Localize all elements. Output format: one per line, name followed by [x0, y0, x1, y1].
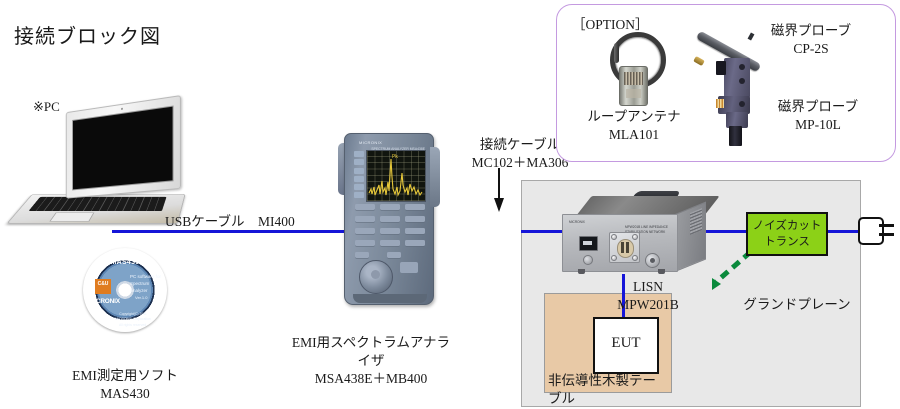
analyzer-soft-keys: [354, 151, 364, 199]
analyzer-button-row-4: [355, 240, 425, 246]
lisn-caption: LISN MPW201B: [596, 278, 700, 314]
cd-badge: C&U: [95, 279, 111, 294]
analyzer-display: Pk: [366, 150, 426, 202]
mp10l-hole-2: [739, 78, 745, 84]
power-plug-icon: [858, 213, 894, 247]
plug-pin-top: [879, 224, 894, 227]
laptop-base: [6, 194, 185, 224]
magnetic-probe-mp10l-icon: [714, 58, 758, 146]
mp10l-top: [724, 58, 750, 98]
laptop-keyboard: [28, 197, 166, 211]
eut-box: EUT: [593, 317, 659, 374]
cp2s-band: [748, 32, 755, 40]
lisn-front-panel: MICRONIX MPW201B LINE IMPEDANCE STABILIZ…: [562, 214, 678, 272]
wire-lisn-output: [703, 230, 747, 233]
cd-brand: MICRONIX: [89, 298, 120, 305]
usb-cable-line: [112, 230, 346, 233]
mp10l-hole-1: [739, 64, 745, 70]
plug-body: [858, 217, 884, 245]
analyzer-button-row-2: [355, 216, 425, 222]
wooden-table-caption: 非伝導性木製テーブル: [548, 372, 666, 408]
mp10l-stem: [729, 126, 742, 146]
cd-disc-icon: MAS430 C&U MICRONIX PC software for Spec…: [83, 248, 167, 332]
laptop-lid: [66, 95, 181, 199]
analyzer-brand: MICRONIX: [359, 140, 382, 145]
lisn-power-outlet: [609, 232, 640, 263]
analyzer-button-row-1: [355, 204, 425, 210]
svg-text:Pk: Pk: [392, 154, 398, 160]
lisn-control-knob: [583, 255, 593, 265]
analyzer-right-bumper: [430, 147, 440, 207]
webcam-icon: [121, 108, 123, 110]
lisn-side-panel: [675, 201, 706, 272]
cp2s-tip: [693, 56, 705, 66]
spectrum-trace: Pk: [367, 151, 425, 201]
cd-version: Ver.1.0: [135, 295, 147, 300]
lisn-display: [579, 236, 598, 251]
cd-title: MAS430: [83, 259, 167, 266]
loop-antenna-caption: ループアンテナ MLA101: [578, 108, 690, 144]
eut-label: EUT: [595, 335, 657, 352]
magnetic-probe-mp10l-caption: 磁界プローブ MP-10L: [762, 98, 874, 134]
wire-transformer-to-plug: [824, 230, 858, 233]
lisn-foot-left: [578, 269, 585, 274]
option-box-title: ［OPTION］: [572, 13, 649, 33]
loop-antenna-icon: [604, 32, 662, 104]
analyzer-button-row-3: [355, 228, 425, 234]
page-title: 接続ブロック図: [14, 20, 161, 49]
lisn-foot-right: [658, 269, 665, 274]
analyzer-button-row-5: [355, 252, 401, 258]
analyzer-bottom-edge: [353, 294, 427, 303]
lisn-vents: [690, 208, 702, 235]
cd-badge-text: C&U: [95, 279, 111, 288]
cd-software-line1: PC software for: [130, 274, 161, 281]
lisn-device-icon: MICRONIX MPW201B LINE IMPEDANCE STABILIZ…: [562, 196, 704, 275]
noise-cut-transformer-label: ノイズカットトランス: [748, 218, 826, 249]
wire-lisn-input: [521, 230, 563, 233]
cd-copyright: Copyright(C) 2011 MICRONIX Corporation A…: [113, 312, 153, 328]
usb-cable-label: USBケーブル MI400: [165, 210, 295, 230]
cd-caption: EMI測定用ソフト MAS430: [60, 367, 190, 403]
lisn-brand: MICRONIX: [569, 220, 585, 224]
mp10l-hole-3: [739, 101, 745, 107]
mp10l-contacts: [716, 99, 724, 108]
magnetic-probe-cp2s-caption: 磁界プローブ CP-2S: [756, 22, 866, 58]
cd-software-line2: Spectrum Analyzer: [130, 281, 167, 295]
analyzer-caption: EMI用スペクトラムアナライザ MSA438E＋MB400: [288, 334, 454, 389]
ground-plane-label: グランドプレーン: [742, 296, 852, 314]
analyzer-rotary-knob: [359, 260, 393, 294]
loop-antenna-body: [619, 66, 648, 106]
laptop-touchpad: [49, 212, 94, 221]
spectrum-analyzer-icon: MICRONIX SPECTRUM ANALYZER MSA438E Pk: [338, 133, 442, 305]
down-arrow-icon: [492, 168, 506, 212]
analyzer-body: MICRONIX SPECTRUM ANALYZER MSA438E Pk: [344, 133, 434, 305]
lisn-bnc-connector: [645, 253, 660, 268]
plug-pin-bottom: [879, 233, 894, 236]
laptop-screen: [72, 105, 173, 190]
analyzer-side-button: [400, 262, 418, 273]
noise-cut-transformer: ノイズカットトランス: [746, 212, 828, 256]
